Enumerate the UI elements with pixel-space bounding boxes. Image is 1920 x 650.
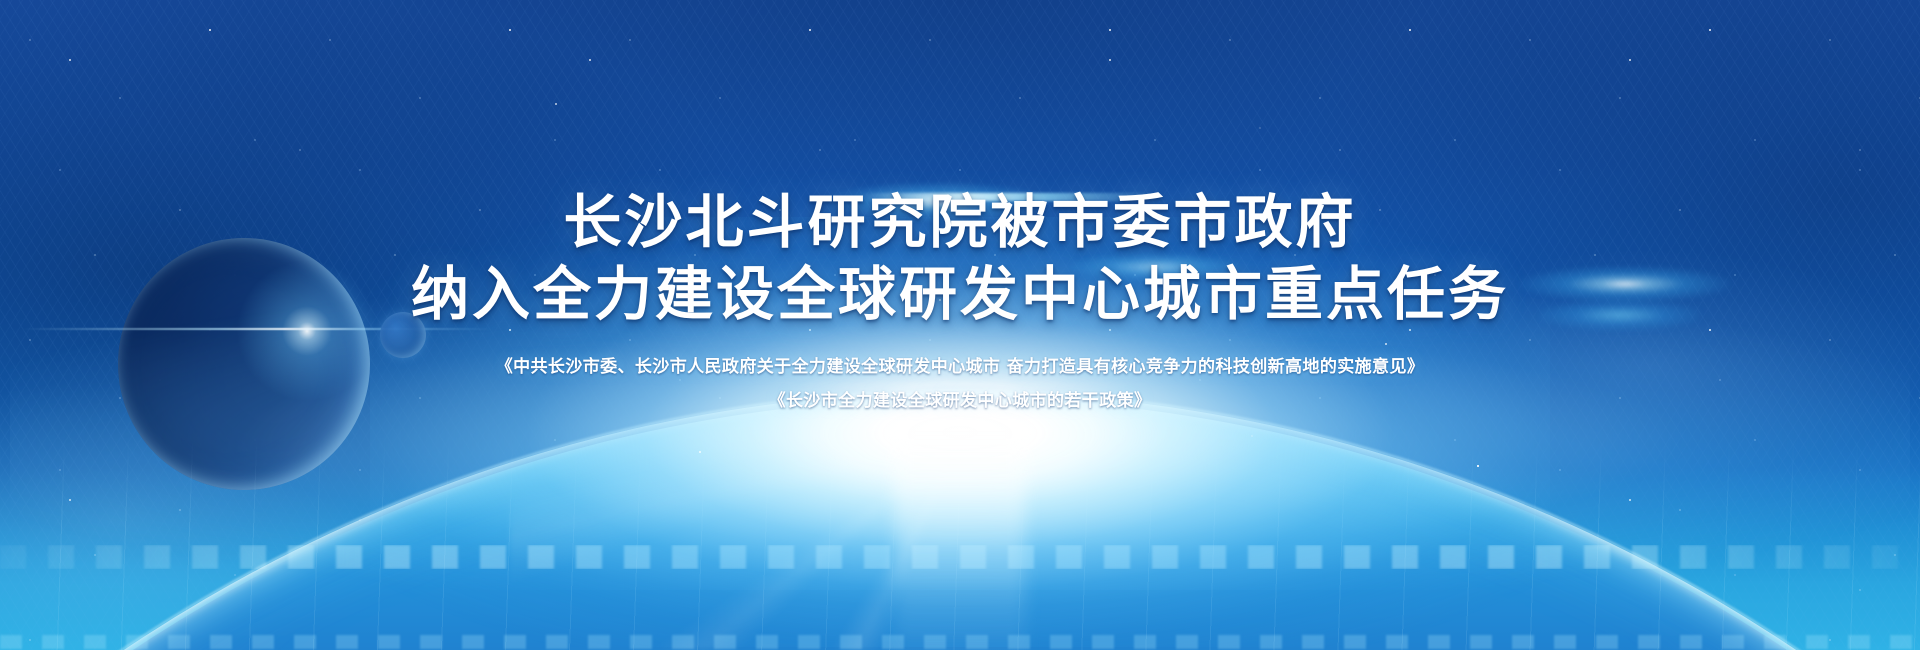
banner-subtitle-line-2: 《长沙市全力建设全球研发中心城市的若干政策》: [769, 386, 1152, 416]
banner-title-line-2: 纳入全力建设全球研发中心城市重点任务: [411, 258, 1509, 330]
banner-subtitle-line-1: 《中共长沙市委、长沙市人民政府关于全力建设全球研发中心城市 奋力打造具有核心竞争…: [496, 352, 1425, 382]
banner-content: 长沙北斗研究院被市委市政府 纳入全力建设全球研发中心城市重点任务 《中共长沙市委…: [0, 0, 1920, 650]
hero-banner: 0 1 0 1 0 0 1 1 0 1 0 1 0 0 1 0 1 0 1 0 …: [0, 0, 1920, 650]
banner-title-line-1: 长沙北斗研究院被市委市政府: [563, 186, 1356, 258]
